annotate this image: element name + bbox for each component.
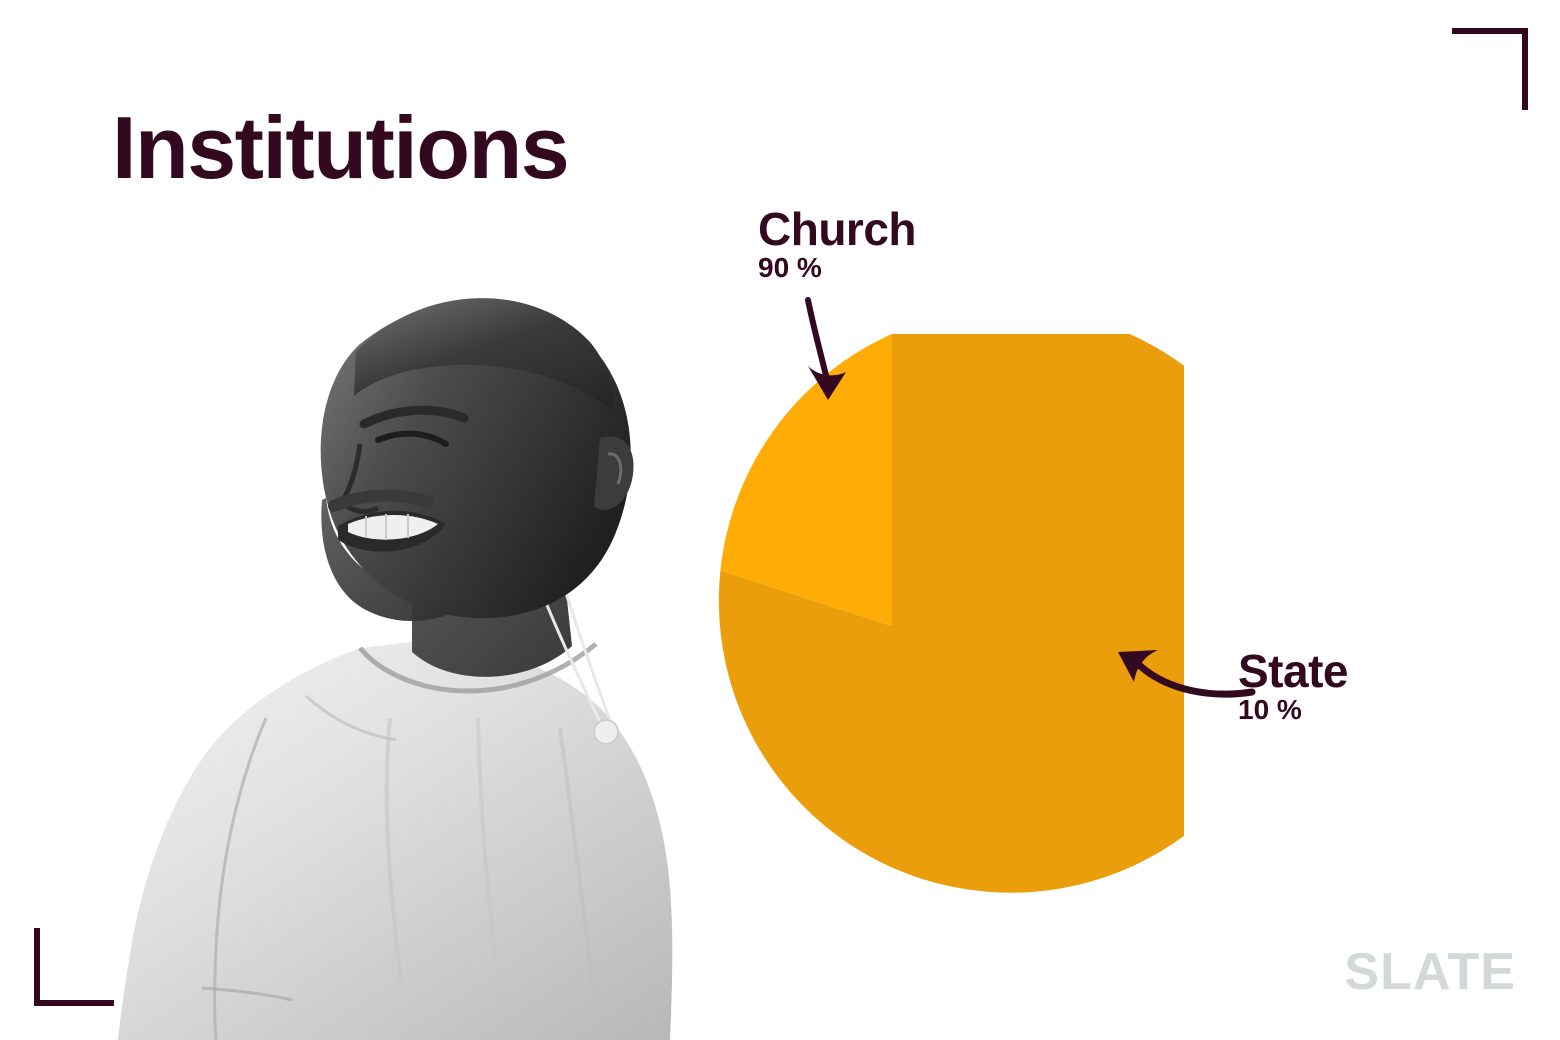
infographic-canvas: Institutions — [0, 0, 1560, 1040]
page-title: Institutions — [112, 104, 568, 192]
photo-head — [321, 298, 634, 621]
callout-state-value: 90 % — [758, 252, 916, 284]
callout-state-label: Church — [758, 206, 916, 252]
slate-logo: SLATE — [1344, 946, 1516, 998]
pie-chart — [600, 334, 1184, 918]
callout-state: Church 90 % — [758, 206, 916, 284]
curved-arrow-left-icon — [1110, 636, 1255, 708]
corner-bracket-top-right — [1452, 28, 1528, 110]
curved-arrow-down-icon — [780, 296, 870, 406]
